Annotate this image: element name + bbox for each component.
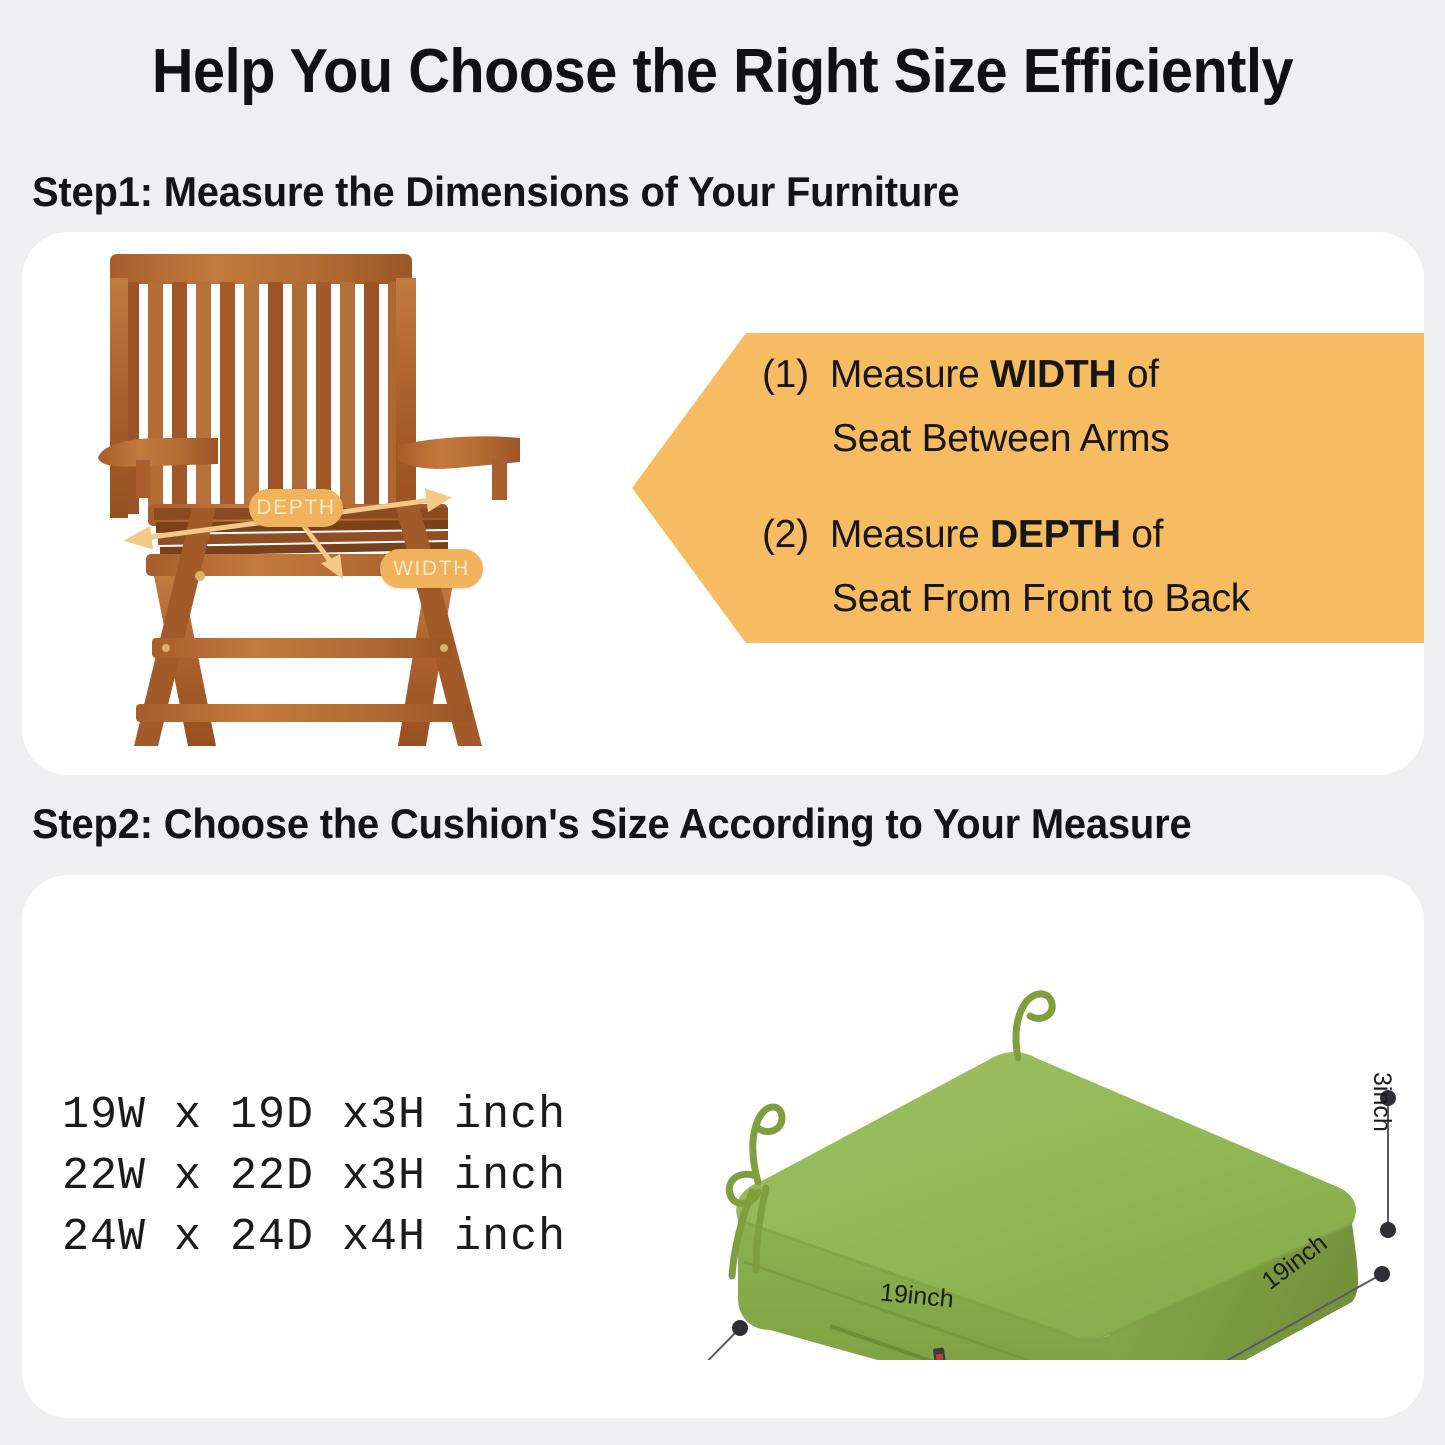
depth-pill-label: DEPTH xyxy=(249,489,343,527)
callout-line-2a: (2) Measure DEPTH of xyxy=(762,513,1163,557)
chair-back-slats xyxy=(124,282,403,514)
cushion-illustration xyxy=(640,930,1430,1360)
page-title: Help You Choose the Right Size Efficient… xyxy=(51,36,1395,107)
size-option: 22W x 22D x3H inch xyxy=(62,1146,566,1207)
callout-line-1b: Seat Between Arms xyxy=(832,417,1169,461)
size-option: 19W x 19D x3H inch xyxy=(62,1085,566,1146)
size-option: 24W x 24D x4H inch xyxy=(62,1207,566,1268)
callout-number-1: (1) xyxy=(762,353,809,396)
callout-line-1a: (1) Measure WIDTH of xyxy=(762,353,1159,397)
step1-heading: Step1: Measure the Dimensions of Your Fu… xyxy=(32,168,959,216)
callout-line-2b: Seat From Front to Back xyxy=(832,577,1250,621)
chair-armrest-right xyxy=(398,436,520,500)
cushion-tie-back xyxy=(1016,994,1052,1058)
callout-number-2: (2) xyxy=(762,513,809,556)
size-option-list: 19W x 19D x3H inch 22W x 22D x3H inch 24… xyxy=(62,1085,566,1268)
instruction-callout: (1) Measure WIDTH of Seat Between Arms (… xyxy=(632,333,1424,643)
cushion-height-dimension-label: 3inch xyxy=(1367,1072,1396,1132)
step2-heading: Step2: Choose the Cushion's Size Accordi… xyxy=(32,800,1191,848)
chair-back-rail xyxy=(110,254,412,284)
width-pill-label: WIDTH xyxy=(380,549,483,588)
